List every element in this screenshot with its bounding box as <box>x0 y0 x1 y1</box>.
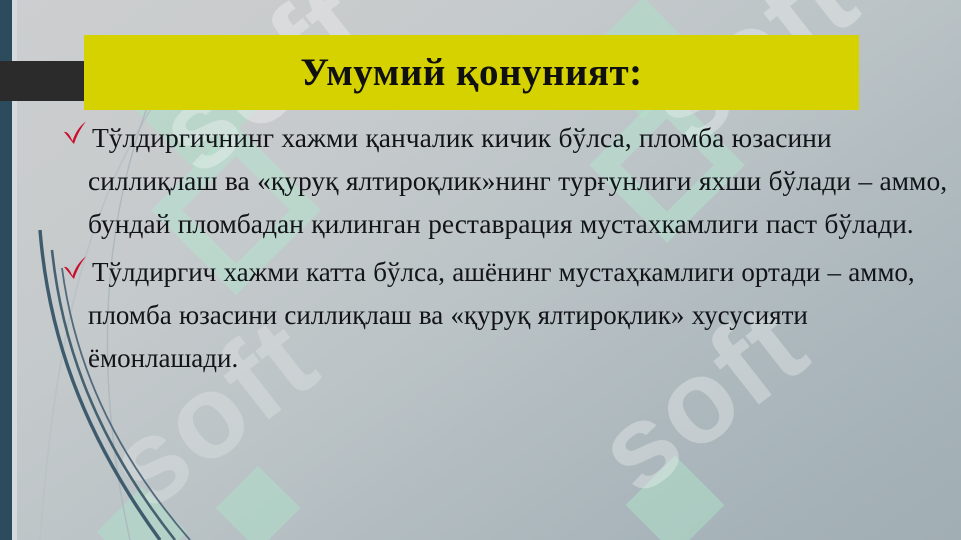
red-check-icon <box>62 255 88 285</box>
list-item-text: Тўлдиргичнинг хажми қанчалик кичик бўлса… <box>88 116 952 245</box>
title-accent-bar <box>0 61 86 101</box>
list-item: Тўлдиргич хажми катта бўлса, ашёнинг мус… <box>62 251 952 380</box>
title-banner: Умумий қонуният: <box>84 35 859 110</box>
mint-diamond-icon <box>97 487 188 540</box>
list-item-text: Тўлдиргич хажми катта бўлса, ашёнинг мус… <box>88 251 952 380</box>
slide-canvas: soft soft soft soft Умумий қонуният: Тўл… <box>0 0 961 540</box>
page-title: Умумий қонуният: <box>300 53 642 92</box>
mint-diamond-icon <box>626 456 725 540</box>
list-item: Тўлдиргичнинг хажми қанчалик кичик бўлса… <box>62 116 952 245</box>
mint-diamond-icon <box>216 466 301 540</box>
slide-content: Тўлдиргичнинг хажми қанчалик кичик бўлса… <box>62 116 952 380</box>
red-check-icon <box>62 120 88 150</box>
